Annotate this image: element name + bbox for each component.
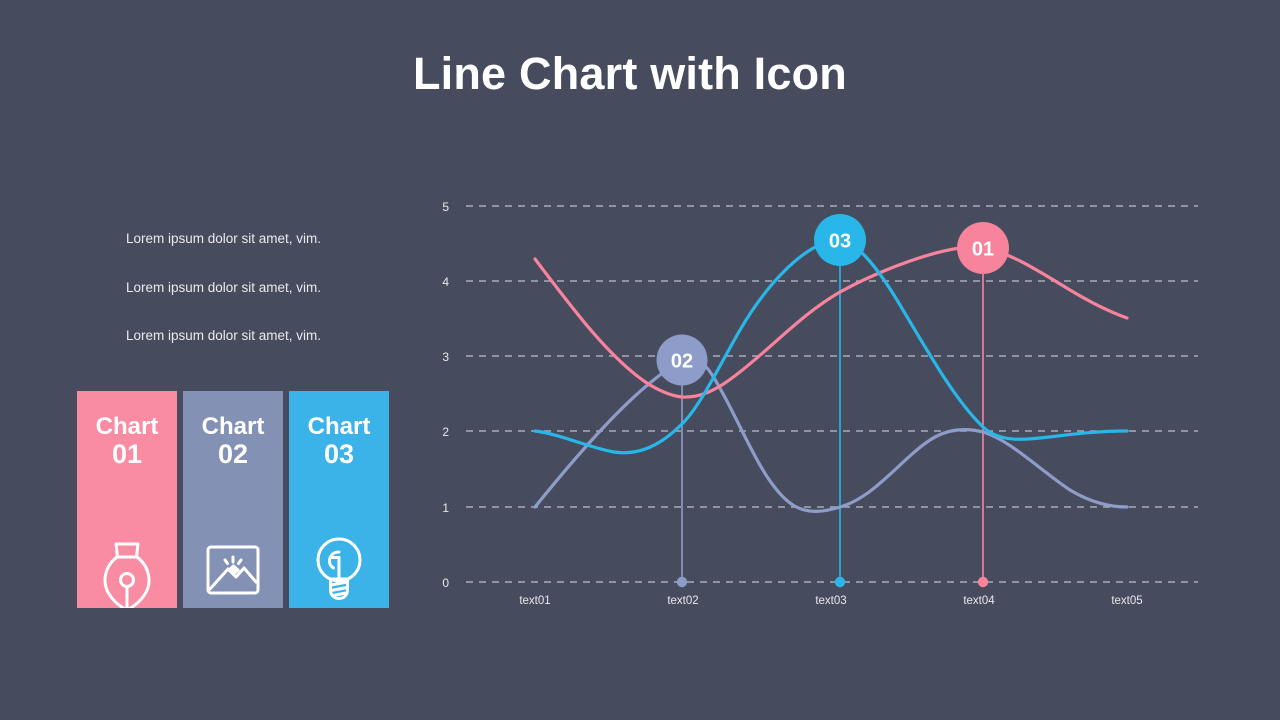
marker-bubble-01[interactable]: 01 (957, 222, 1009, 274)
x-tick-label-text02: text02 (667, 595, 698, 607)
y-axis-labels: 5 4 3 2 1 0 (442, 200, 449, 590)
axis-dot-text02 (677, 577, 687, 587)
x-tick-label-text05: text05 (1111, 595, 1142, 607)
marker-stems (682, 266, 983, 582)
x-axis-labels: text01 text02 text03 text04 text05 (519, 595, 1142, 607)
slide-root: Line Chart with Icon Lorem ipsum dolor s… (0, 0, 1280, 720)
y-tick-label: 2 (442, 425, 449, 439)
y-tick-label: 4 (442, 275, 449, 289)
y-tick-label: 0 (442, 576, 449, 590)
y-tick-label: 3 (442, 350, 449, 364)
marker-bubble-label: 02 (671, 351, 693, 373)
marker-bubble-label: 03 (829, 231, 851, 253)
marker-bubble-03[interactable]: 03 (814, 214, 866, 266)
marker-bubble-02[interactable]: 02 (657, 335, 708, 386)
axis-dot-text03 (835, 577, 845, 587)
x-tick-label-text04: text04 (963, 595, 995, 607)
marker-bubble-label: 01 (972, 239, 994, 261)
x-tick-label-text03: text03 (815, 595, 846, 607)
y-tick-label: 1 (442, 501, 449, 515)
x-tick-label-text01: text01 (519, 595, 550, 607)
series-line-01 (535, 247, 1127, 397)
y-tick-label: 5 (442, 200, 449, 214)
series-line-02 (535, 358, 1127, 511)
line-chart: 5 4 3 2 1 0 (0, 0, 1280, 720)
axis-dot-text04 (978, 577, 988, 587)
